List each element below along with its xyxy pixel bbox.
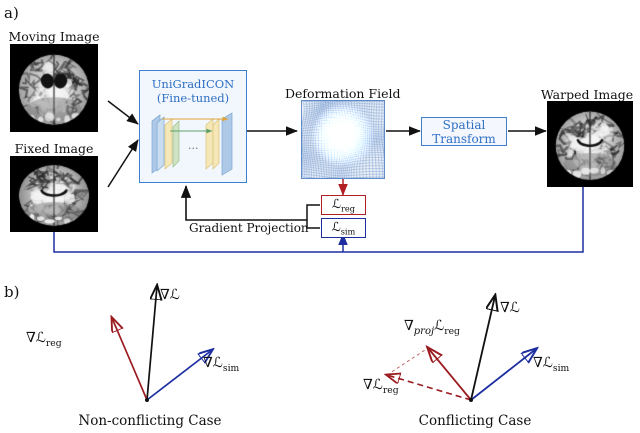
unigradicon-network-box[interactable]: UniGradICON (Fine-tuned) ...	[139, 70, 247, 183]
panel-label-b: b)	[4, 283, 19, 301]
vector-right-origin	[469, 398, 473, 402]
vector-left-origin	[145, 398, 149, 402]
label-left-grad-sim-sub: sim	[223, 363, 239, 374]
label-right-grad-proj-reg: ∇projℒreg	[404, 318, 460, 337]
label-left-grad-sim: ∇ℒsim	[203, 355, 239, 374]
loss-sim-box[interactable]: ℒsim	[321, 218, 366, 238]
svg-text:...: ...	[188, 139, 199, 152]
vector-right-grad-sim	[471, 349, 536, 400]
loss-reg-box[interactable]: ℒreg	[321, 195, 366, 215]
network-title-line2: (Fine-tuned)	[140, 92, 246, 105]
caption-non-conflicting-case: Non-conflicting Case	[60, 413, 240, 429]
vector-right-projection-helper	[387, 348, 428, 375]
deformation-field-caption: Deformation Field	[285, 86, 400, 101]
warped-image-thumbnail	[547, 101, 633, 187]
loss-reg-symbol: ℒreg	[332, 196, 355, 214]
loss-sim-symbol: ℒsim	[332, 219, 356, 237]
caption-conflicting-case: Conflicting Case	[395, 413, 555, 429]
spatial-transform-line1: Spatial	[443, 118, 486, 132]
vector-right-grad-reg	[387, 375, 471, 400]
line-warped-to-bus	[343, 187, 583, 252]
label-right-grad-sim-sub: sim	[553, 363, 569, 374]
moving-image-thumbnail	[10, 44, 98, 132]
label-right-grad-reg-sub: reg	[383, 385, 399, 396]
vector-right-grad-total	[471, 296, 495, 400]
vector-right-grad-proj-reg	[428, 348, 471, 400]
panel-label-a: a)	[4, 4, 19, 22]
label-left-grad-reg: ∇ℒreg	[26, 330, 62, 349]
line-lreg-to-junction	[307, 205, 320, 220]
network-title-line1: UniGradICON	[140, 78, 246, 91]
warped-image-caption: Warped Image	[540, 87, 634, 102]
loss-sim-subscript: sim	[341, 227, 356, 237]
label-left-grad-total: ∇ℒ	[160, 287, 180, 303]
label-right-grad-total: ∇ℒ	[500, 300, 520, 316]
vector-left-grad-reg	[112, 318, 147, 400]
figure-root: a) b) Moving Image Fixed Image Deformati…	[0, 0, 640, 433]
moving-image-caption: Moving Image	[8, 29, 100, 44]
fixed-image-thumbnail	[10, 156, 98, 232]
fixed-image-caption: Fixed Image	[8, 141, 100, 156]
arrow-moving-to-network	[108, 101, 138, 124]
label-right-grad-reg: ∇ℒreg	[363, 377, 399, 396]
gradient-projection-label: Gradient Projection	[189, 221, 309, 235]
label-right-grad-proj-reg-sub: reg	[444, 326, 460, 337]
label-left-grad-reg-sub: reg	[46, 338, 62, 349]
label-right-proj-sub: proj	[414, 326, 434, 337]
deformation-field-grid	[301, 100, 385, 179]
loss-reg-subscript: reg	[341, 204, 355, 214]
label-right-grad-sim: ∇ℒsim	[533, 355, 569, 374]
vector-left-grad-total	[147, 286, 157, 400]
line-junction-to-network	[186, 186, 307, 220]
spatial-transform-line2: Transform	[432, 132, 496, 146]
spatial-transform-box[interactable]: Spatial Transform	[421, 117, 507, 146]
network-architecture-illustration: ...	[140, 109, 248, 184]
arrow-fixed-to-network	[108, 140, 138, 187]
